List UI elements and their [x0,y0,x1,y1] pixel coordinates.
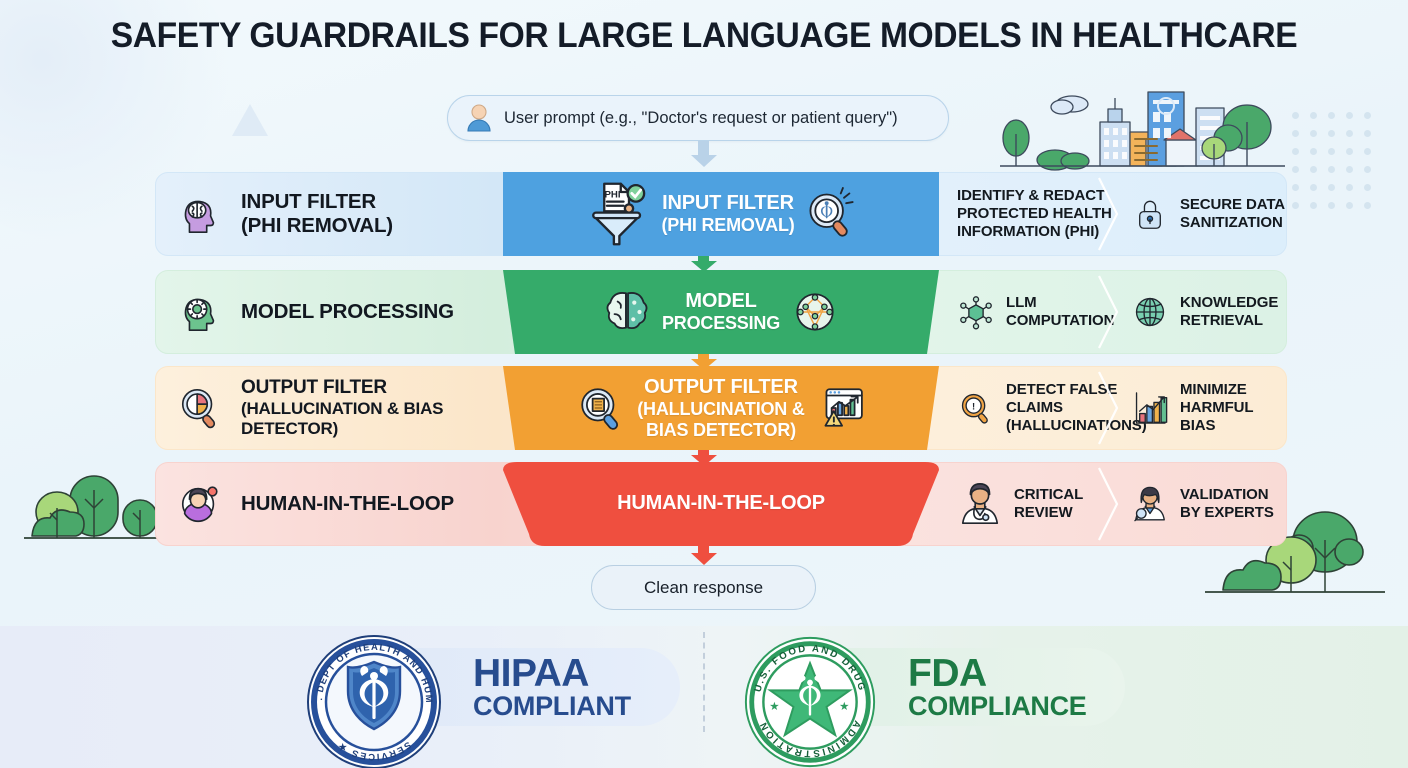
row-left-label-output-filter: OUTPUT FILTER(HALLUCINATION & BIAS DETEC… [155,366,503,450]
dot [1346,130,1353,137]
doctor-female-icon [1131,485,1169,523]
dot [1310,130,1317,137]
infographic-canvas: SAFETY GUARDRAILS FOR LARGE LANGUAGE MOD… [0,0,1408,768]
flow-arrow [691,155,717,167]
padlock-icon [1131,195,1169,233]
dot [1364,202,1371,209]
hhs-seal-icon: U.S. DEPT OF HEALTH AND HUMAN SERVICES ★ [304,632,444,768]
row-step-output-filter-2: MINIMIZEHARMFUL BIAS [1113,366,1287,450]
step-line: IDENTIFY & REDACT [957,187,1105,204]
dot [1346,202,1353,209]
row-left-label-input-filter: INPUT FILTER(PHI REMOVAL) [155,172,503,256]
step-line: RETRIEVAL [1180,312,1278,330]
row-band-model-processing: MODELPROCESSING [503,270,939,354]
trees-icon [24,450,174,550]
user-prompt-text: User prompt (e.g., "Doctor's request or … [504,109,898,128]
pipeline-row-input-filter: INPUT FILTER(PHI REMOVAL) PHI INPUT FILT… [155,172,1287,256]
dot [1292,202,1299,209]
dot [1292,130,1299,137]
dot [1328,148,1335,155]
dot [1328,112,1335,119]
pipeline-row-model-processing: MODEL PROCESSING MODELPROCESSING LLMCOMP… [155,270,1287,354]
dot [1346,184,1353,191]
row-left-label-model-processing: MODEL PROCESSING [155,270,503,354]
row-band-human-in-the-loop: HUMAN-IN-THE-LOOP [503,462,939,546]
split-brain-icon [602,287,652,337]
pipeline-row-output-filter: OUTPUT FILTER(HALLUCINATION & BIAS DETEC… [155,366,1287,450]
city-skyline-icon [1000,82,1285,174]
row-step-output-filter-1: ! DETECT FALSE CLAIMS(HALLUCINATIONS) [939,366,1113,450]
molecule-cube-icon [957,293,995,331]
dot [1346,112,1353,119]
magnifier-caduceus-icon [805,188,857,240]
hipaa-title: HIPAA [473,655,631,692]
band-title: MODEL [685,290,756,312]
row-left-label-human-in-the-loop: HUMAN-IN-THE-LOOP [155,462,503,546]
row-step-input-filter-2: SECURE DATASANITIZATION [1113,172,1287,256]
row-step-model-processing-1: LLMCOMPUTATION [939,270,1113,354]
dot [1364,184,1371,191]
clean-response-pill: Clean response [591,565,816,610]
row-step-human-in-the-loop-2: VALIDATIONBY EXPERTS [1113,462,1287,546]
triangle-decoration [232,104,268,136]
fda-subtitle: COMPLIANCE [908,694,1087,720]
user-prompt-banner: User prompt (e.g., "Doctor's request or … [447,95,949,141]
hallucination-magnifier-icon: ! [957,389,995,427]
step-line: VALIDATION [1180,486,1268,503]
row-step-input-filter-1: IDENTIFY & REDACTPROTECTED HEALTHINFORMA… [939,172,1113,256]
user-avatar-icon [466,104,492,132]
step-chevron-icon [1097,178,1121,250]
gear-head-icon [177,289,223,335]
hipaa-subtitle: COMPLIANT [473,694,631,720]
row-step-human-in-the-loop-1: CRITICALREVIEW [939,462,1113,546]
step-chevron-icon [1097,276,1121,348]
svg-text:!: ! [972,402,975,413]
step-line: KNOWLEDGE [1180,294,1278,311]
row-band-output-filter: OUTPUT FILTER(HALLUCINATION &BIAS DETECT… [503,366,939,450]
dot [1292,184,1299,191]
step-line: INFORMATION (PHI) [957,223,1112,241]
row-title: INPUT FILTER [241,190,376,213]
band-title: OUTPUT FILTER [644,376,798,398]
svg-text:★: ★ [839,700,849,713]
band-subtitle-cont: BIAS DETECTOR) [637,420,804,441]
band-title: INPUT FILTER [662,192,794,214]
globe-icon [1131,293,1169,331]
row-title: HUMAN-IN-THE-LOOP [241,492,454,515]
dot [1310,112,1317,119]
dot [1346,148,1353,155]
band-title: HUMAN-IN-THE-LOOP [617,492,825,514]
band-subtitle: PROCESSING [662,313,780,334]
step-line: PROTECTED HEALTH [957,205,1112,223]
dot [1364,166,1371,173]
dot [1292,148,1299,155]
dot [1310,166,1317,173]
step-chevron-icon [1097,372,1121,444]
dot [1292,166,1299,173]
pie-chart-magnifier-icon [177,385,223,431]
row-band-input-filter: PHI INPUT FILTER(PHI REMOVAL) [503,172,939,256]
dot [1364,148,1371,155]
svg-text:★: ★ [769,700,779,713]
band-subtitle: (HALLUCINATION & [637,399,804,420]
dot [1364,112,1371,119]
band-subtitle: (PHI REMOVAL) [661,215,794,236]
doctor-male-icon [957,481,1003,527]
phi-document-funnel-icon: PHI [585,181,651,247]
fda-seal-icon: U.S. FOOD AND DRUG ADMINISTRATION ★ ★ [742,634,878,768]
dot [1292,112,1299,119]
row-subtitle: (HALLUCINATION & BIAS DETECTOR) [241,399,503,439]
flow-arrow [691,553,717,565]
chart-warning-icon [815,383,865,433]
row-title: MODEL PROCESSING [241,300,454,323]
dot [1310,184,1317,191]
dot [1310,202,1317,209]
neural-network-icon [790,287,840,337]
step-line: SANITIZATION [1180,214,1285,232]
step-line: BY EXPERTS [1180,504,1274,522]
row-subtitle: (PHI REMOVAL) [241,214,393,238]
row-step-model-processing-2: KNOWLEDGERETRIEVAL [1113,270,1287,354]
dot [1364,130,1371,137]
step-line: SECURE DATA [1180,196,1285,213]
svg-text:PHI: PHI [605,190,621,201]
dot [1328,130,1335,137]
page-title: SAFETY GUARDRAILS FOR LARGE LANGUAGE MOD… [28,16,1380,56]
pipeline-row-human-in-the-loop: HUMAN-IN-THE-LOOPHUMAN-IN-THE-LOOP CRITI… [155,462,1287,546]
dot-grid-decoration [1292,112,1382,220]
bar-chart-trend-icon [1131,389,1169,427]
step-line: MINIMIZE [1180,381,1247,398]
dot [1328,166,1335,173]
dot [1328,184,1335,191]
compliance-divider [703,632,705,732]
step-line: HARMFUL BIAS [1180,399,1287,435]
clean-response-text: Clean response [644,578,763,598]
step-chevron-icon [1097,468,1121,540]
fda-title: FDA [908,655,1087,692]
dot [1346,166,1353,173]
step-line: CRITICAL [1014,486,1083,503]
step-line: REVIEW [1014,504,1083,522]
person-avatar-icon [177,481,223,527]
document-magnifier-icon [577,383,627,433]
dot [1310,148,1317,155]
dot [1328,202,1335,209]
row-title: OUTPUT FILTER [241,377,387,398]
brain-head-icon [177,191,223,237]
step-line: LLM [1006,294,1037,311]
